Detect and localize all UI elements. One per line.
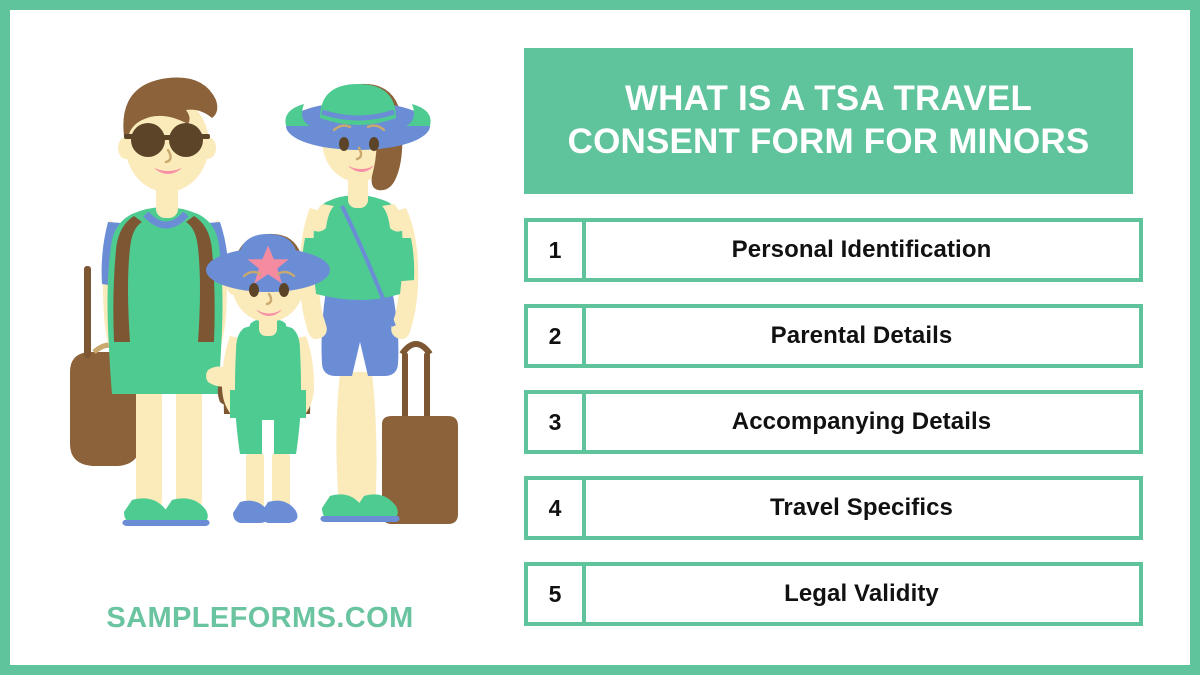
father-right-leg — [176, 382, 202, 512]
mother-left-eye — [339, 137, 349, 151]
title-block: What is a TSA Travel Consent Form for Mi… — [524, 48, 1133, 194]
item-label: Travel Specifics — [770, 494, 953, 522]
item-number: 3 — [549, 409, 562, 436]
list-item[interactable]: Accompanying Details 3 — [524, 390, 1143, 454]
mother-sun-hat — [285, 84, 430, 150]
illustration-panel: .sk { fill:#fbeaba; } .hair { fill:#8b62… — [10, 10, 510, 665]
child-right-eye — [279, 283, 289, 297]
infographic-root: .sk { fill:#fbeaba; } .hair { fill:#8b62… — [0, 0, 1200, 675]
item-label-box: Travel Specifics — [554, 476, 1143, 540]
item-label-box: Personal Identification — [554, 218, 1143, 282]
item-number: 2 — [549, 323, 562, 350]
child-figure — [206, 234, 330, 523]
item-label-box: Legal Validity — [554, 562, 1143, 626]
father-shoes — [122, 498, 209, 526]
father-figure — [70, 77, 228, 526]
item-label-box: Accompanying Details — [554, 390, 1143, 454]
mother-right-eye — [369, 137, 379, 151]
father-left-leg — [136, 382, 162, 512]
child-shoes — [233, 501, 297, 523]
mother-figure — [285, 84, 458, 524]
content-panel: What is a TSA Travel Consent Form for Mi… — [524, 10, 1190, 665]
list-item[interactable]: Parental Details 2 — [524, 304, 1143, 368]
page-title: What is a TSA Travel Consent Form for Mi… — [546, 78, 1111, 163]
item-number-box: 2 — [524, 304, 586, 368]
infographic-canvas: .sk { fill:#fbeaba; } .hair { fill:#8b62… — [10, 10, 1190, 665]
child-overalls — [235, 324, 301, 454]
item-number-box: 1 — [524, 218, 586, 282]
list-item[interactable]: Travel Specifics 4 — [524, 476, 1143, 540]
item-label: Parental Details — [771, 322, 953, 350]
item-label: Accompanying Details — [732, 408, 991, 436]
item-number-box: 4 — [524, 476, 586, 540]
item-number: 4 — [549, 495, 562, 522]
item-number: 1 — [549, 237, 562, 264]
item-label: Legal Validity — [784, 580, 939, 608]
item-number-box: 5 — [524, 562, 586, 626]
item-label-box: Parental Details — [554, 304, 1143, 368]
item-number: 5 — [549, 581, 562, 608]
list-item[interactable]: Legal Validity 5 — [524, 562, 1143, 626]
items-list: Personal Identification 1 Parental Detai… — [524, 218, 1143, 626]
family-travelers-illustration: .sk { fill:#fbeaba; } .hair { fill:#8b62… — [58, 52, 478, 572]
list-item[interactable]: Personal Identification 1 — [524, 218, 1143, 282]
child-left-eye — [249, 283, 259, 297]
item-label: Personal Identification — [732, 236, 992, 264]
watermark-text: SAMPLEFORMS.COM — [10, 602, 510, 635]
item-number-box: 3 — [524, 390, 586, 454]
